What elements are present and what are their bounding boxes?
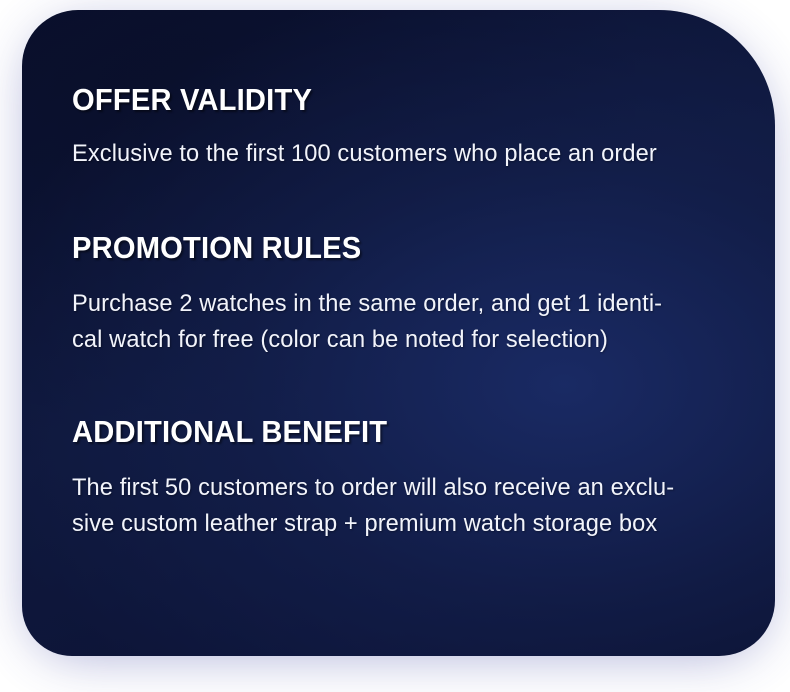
section-heading-additional-benefit: ADDITIONAL BENEFIT: [72, 414, 705, 450]
section-body-promotion-rules: Purchase 2 watches in the same order, an…: [72, 286, 721, 358]
section-offer-validity: OFFER VALIDITY Exclusive to the first 10…: [72, 82, 745, 172]
section-heading-promotion-rules: PROMOTION RULES: [72, 230, 705, 266]
body-line: Purchase 2 watches in the same order, an…: [72, 286, 721, 322]
body-line: sive custom leather strap + premium watc…: [72, 506, 721, 542]
section-promotion-rules: PROMOTION RULES Purchase 2 watches in th…: [72, 230, 745, 358]
card-content: OFFER VALIDITY Exclusive to the first 10…: [22, 10, 775, 656]
body-line: The first 50 customers to order will als…: [72, 470, 721, 506]
promotion-card: OFFER VALIDITY Exclusive to the first 10…: [22, 10, 775, 656]
body-line: cal watch for free (color can be noted f…: [72, 322, 721, 358]
section-body-offer-validity: Exclusive to the first 100 customers who…: [72, 136, 721, 172]
section-body-additional-benefit: The first 50 customers to order will als…: [72, 470, 721, 542]
section-additional-benefit: ADDITIONAL BENEFIT The first 50 customer…: [72, 414, 745, 542]
body-line: Exclusive to the first 100 customers who…: [72, 136, 721, 172]
promo-card-stage: OFFER VALIDITY Exclusive to the first 10…: [0, 0, 790, 692]
section-heading-offer-validity: OFFER VALIDITY: [72, 82, 705, 118]
